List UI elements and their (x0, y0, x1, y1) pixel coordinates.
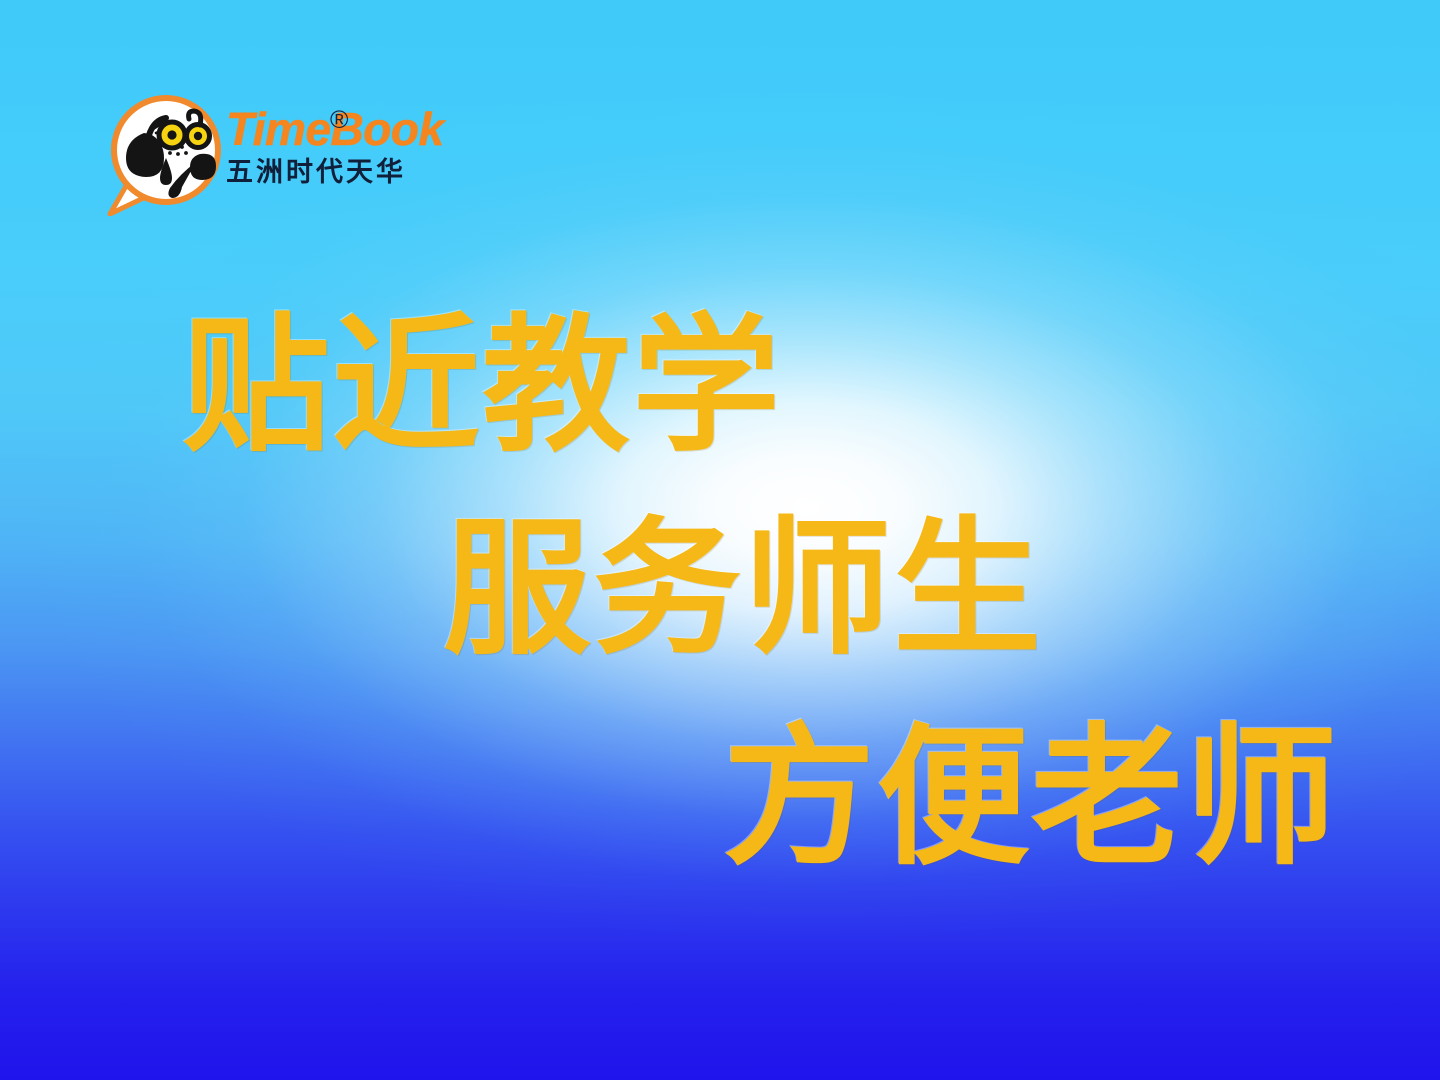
brand-subtitle: 五洲时代天华 (226, 159, 474, 186)
timebook-dog-speech-bubble-icon (104, 88, 228, 216)
presentation-slide: TimeBook 五洲时代天华 ® 贴近教学 服务师生 方便老师 (0, 0, 1440, 1080)
timebook-wordmark: TimeBook 五洲时代天华 ® (226, 106, 474, 210)
headline-line-3: 方便老师 (723, 722, 1339, 874)
registered-trademark-icon: ® (330, 108, 348, 133)
brand-name: TimeBook (226, 106, 474, 152)
headline-line-2: 服务师生 (443, 515, 1043, 663)
headline-line-1: 贴近教学 (182, 312, 782, 460)
timebook-logo: TimeBook 五洲时代天华 ® (104, 88, 474, 216)
